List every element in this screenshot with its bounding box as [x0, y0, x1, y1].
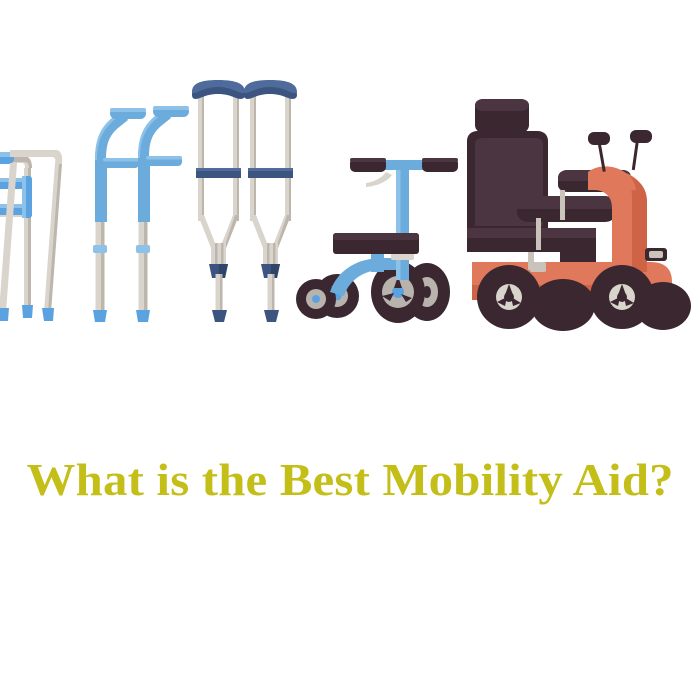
forearm-crutches-icon [93, 106, 189, 322]
mobility-scooter-icon [467, 99, 691, 331]
underarm-crutches-icon [192, 80, 297, 322]
knee-scooter-icon [296, 158, 458, 323]
page-title: What is the Best Mobility Aid? [26, 457, 673, 503]
mobility-aids-illustration [0, 0, 700, 420]
hero-illustration [0, 0, 700, 420]
page-root: What is the Best Mobility Aid? [0, 0, 700, 700]
footer-whitespace [0, 540, 700, 700]
walker-icon [0, 150, 62, 321]
headline-band: What is the Best Mobility Aid? [0, 420, 700, 540]
